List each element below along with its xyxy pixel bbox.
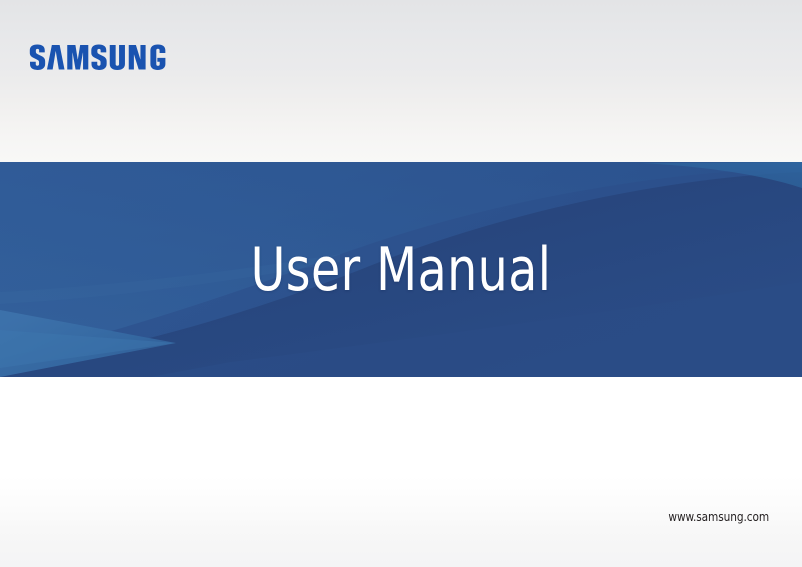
hero-banner: User Manual (0, 162, 802, 377)
manual-cover-page: User Manual www.samsung.com (0, 0, 802, 567)
hero-title: User Manual (48, 162, 754, 377)
header-band (0, 0, 802, 162)
samsung-wordmark-logo (29, 44, 179, 70)
footer-area (0, 377, 802, 567)
website-url[interactable]: www.samsung.com (668, 509, 769, 524)
